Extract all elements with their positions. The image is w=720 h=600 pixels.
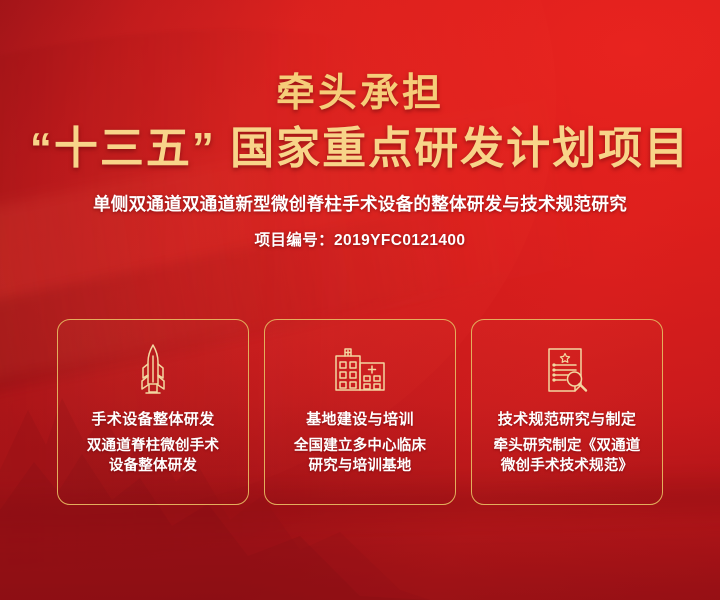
poster-banner: 牵头承担 “十三五” 国家重点研发计划项目 单侧双通道双通道新型微创脊柱手术设备… xyxy=(0,0,720,600)
page-subtitle: 单侧双通道双通道新型微创脊柱手术设备的整体研发与技术规范研究 xyxy=(0,191,720,216)
card-title: 手术设备整体研发 xyxy=(91,408,214,429)
rocket-icon xyxy=(133,342,173,398)
card-title: 基地建设与培训 xyxy=(306,408,414,429)
page-title-line1: 牵头承担 xyxy=(0,74,720,115)
card-equipment-rd[interactable]: 手术设备整体研发 双通道脊柱微创手术设备整体研发 xyxy=(57,319,249,505)
hospital-building-icon xyxy=(333,342,387,398)
document-search-icon xyxy=(542,342,592,398)
card-base-construction-training[interactable]: 基地建设与培训 全国建立多中心临床研究与培训基地 xyxy=(264,319,456,505)
card-body: 牵头研究制定《双通道微创手术技术规范》 xyxy=(484,436,651,476)
card-list: 手术设备整体研发 双通道脊柱微创手术设备整体研发 xyxy=(57,319,663,505)
card-body: 全国建立多中心临床研究与培训基地 xyxy=(284,436,436,476)
card-body: 双通道脊柱微创手术设备整体研发 xyxy=(77,436,229,476)
header: 牵头承担 “十三五” 国家重点研发计划项目 单侧双通道双通道新型微创脊柱手术设备… xyxy=(0,74,720,250)
card-technical-standard[interactable]: 技术规范研究与制定 牵头研究制定《双通道微创手术技术规范》 xyxy=(471,319,663,505)
project-number: 项目编号：2019YFC0121400 xyxy=(0,228,720,250)
page-title-line2: “十三五” 国家重点研发计划项目 xyxy=(0,125,720,173)
card-title: 技术规范研究与制定 xyxy=(498,408,637,429)
